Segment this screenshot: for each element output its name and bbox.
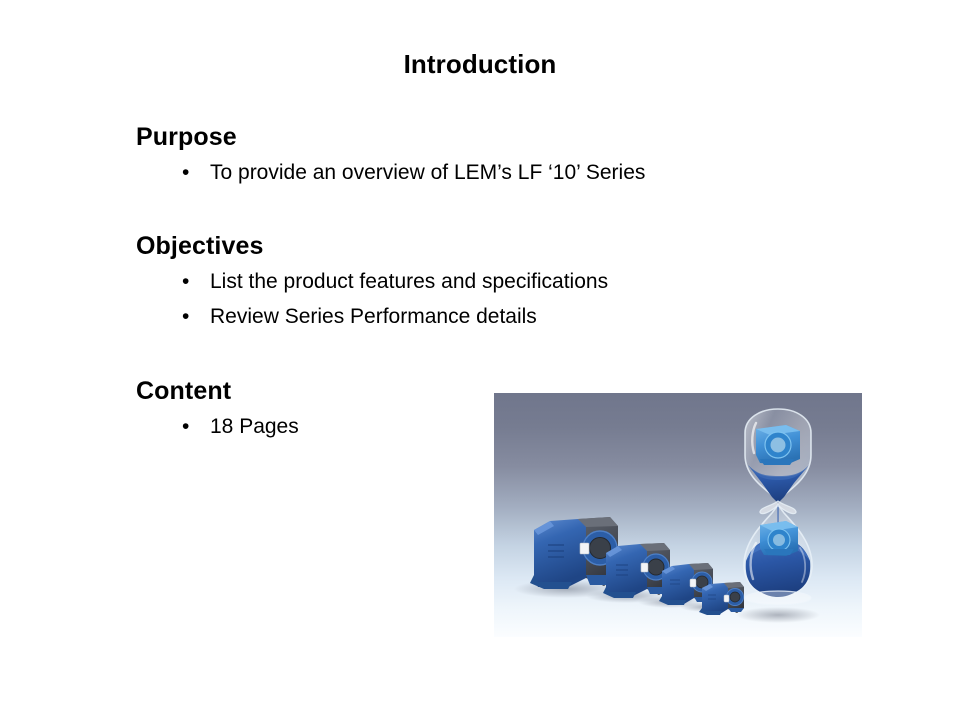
list-item-label: Review Series Performance details: [210, 305, 537, 328]
current-sensor-medium: [603, 543, 670, 598]
list-item-label: 18 Pages: [210, 415, 299, 438]
section-purpose: Purpose • To provide an overview of LEM’…: [136, 122, 776, 193]
list-item-label: To provide an overview of LEM’s LF ‘10’ …: [210, 161, 645, 184]
current-sensor-large: [530, 517, 618, 589]
section-objectives: Objectives • List the product features a…: [136, 231, 776, 337]
list-item: • To provide an overview of LEM’s LF ‘10…: [136, 158, 776, 188]
hourglass: [736, 409, 820, 623]
section-heading-purpose: Purpose: [136, 122, 776, 152]
bullet-dot-icon: •: [182, 412, 189, 442]
list-item: • Review Series Performance details: [136, 302, 776, 332]
list-item-label: List the product features and specificat…: [210, 270, 608, 293]
hourglass-sensor-top: [756, 425, 800, 465]
bullet-dot-icon: •: [182, 158, 189, 188]
bullet-dot-icon: •: [182, 302, 189, 332]
hourglass-sensor-bottom: [760, 521, 798, 556]
bullet-dot-icon: •: [182, 267, 189, 297]
page-title: Introduction: [0, 48, 960, 80]
list-item: • List the product features and specific…: [136, 267, 776, 297]
product-photo-illustration: [494, 393, 862, 637]
bullet-list-purpose: • To provide an overview of LEM’s LF ‘10…: [136, 158, 776, 188]
slide-canvas: Introduction Purpose • To provide an ove…: [0, 0, 960, 720]
current-sensor-smallest: [699, 582, 744, 615]
product-photo: [494, 393, 862, 637]
section-heading-objectives: Objectives: [136, 231, 776, 261]
bullet-list-objectives: • List the product features and specific…: [136, 267, 776, 332]
